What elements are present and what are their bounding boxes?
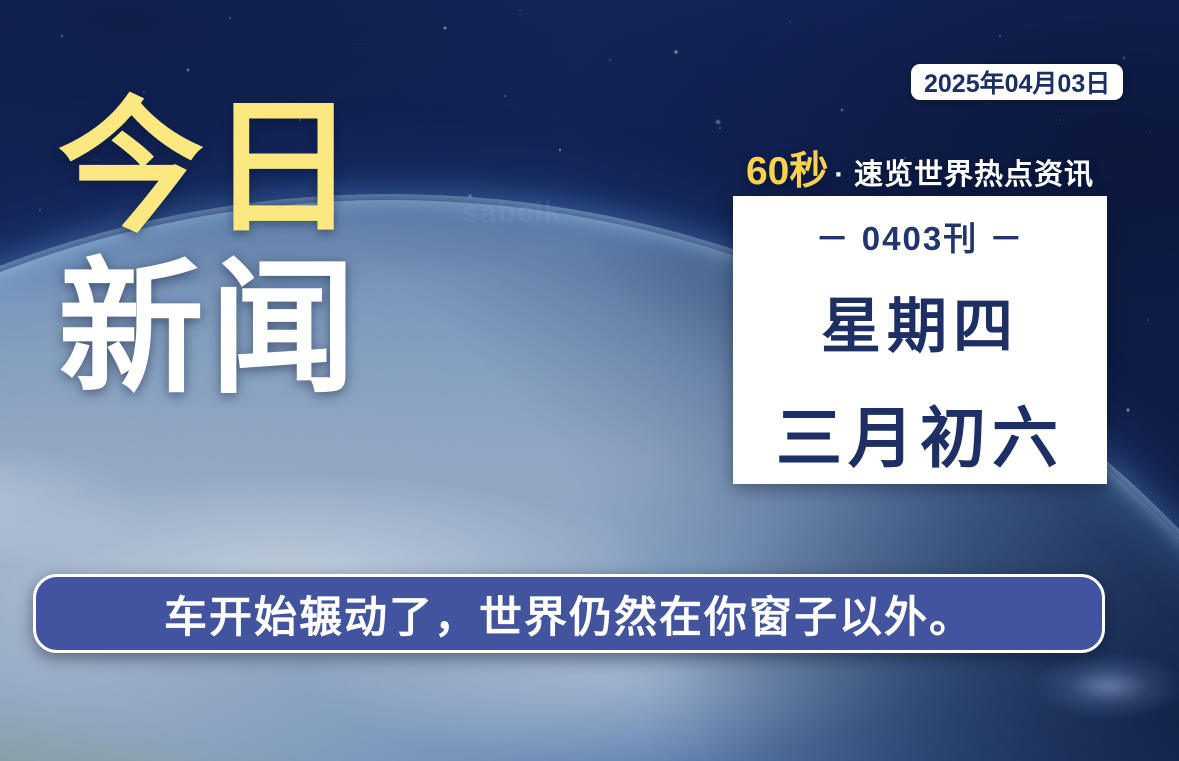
tagline-text: · 速览世界热点资讯	[834, 151, 1094, 193]
tagline-highlight: 60秒	[746, 140, 828, 196]
weekday-label: 星期四	[821, 278, 1019, 365]
lens-flare	[1009, 641, 1179, 731]
issue-number: － 0403刊 －	[816, 212, 1025, 260]
masthead-line-xinwen: 新闻	[58, 257, 478, 400]
quote-text: 车开始辗动了，世界仍然在你窗子以外。	[164, 583, 974, 645]
masthead: 今日 新闻	[58, 96, 478, 400]
masthead-line-jinri: 今日	[58, 96, 478, 239]
date-badge: 2025年04月03日	[911, 64, 1123, 100]
quote-bar: 车开始辗动了，世界仍然在你窗子以外。	[33, 574, 1105, 653]
news-poster: sabcik 今日 新闻 2025年04月03日 60秒 · 速览世界热点资讯 …	[0, 0, 1179, 761]
tagline: 60秒 · 速览世界热点资讯	[733, 140, 1107, 196]
lunar-date-label: 三月初六	[776, 385, 1064, 481]
info-card: － 0403刊 － 星期四 三月初六	[733, 196, 1107, 484]
